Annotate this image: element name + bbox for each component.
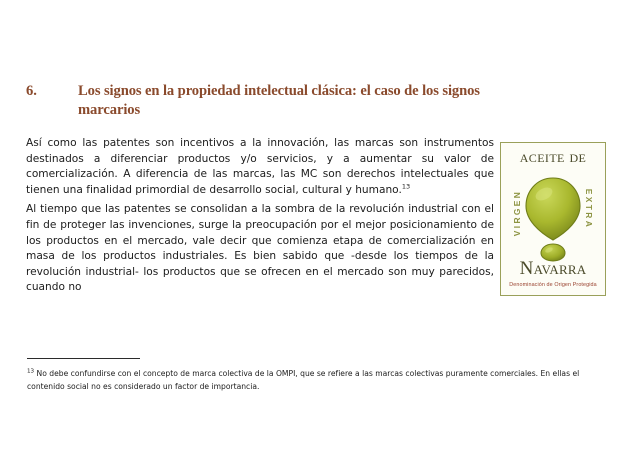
document-page: 6. Los signos en la propiedad intelectua… — [0, 0, 638, 452]
footnote: 13 No debe confundirse con el concepto d… — [27, 368, 619, 393]
footnote-separator — [27, 358, 140, 359]
logo-top-text: aceite de — [500, 147, 606, 167]
footnote-text: No debe confundirse con el concepto de m… — [27, 369, 579, 391]
footnote-number: 13 — [27, 368, 34, 374]
logo-subtitle: Denominación de Origen Protegida — [500, 282, 606, 288]
body-text-block: Así como las patentes son incentivos a l… — [26, 136, 494, 296]
paragraph-2: Al tiempo que las patentes se consolidan… — [26, 202, 494, 296]
olive-oil-drop-icon — [520, 170, 586, 266]
paragraph-1-text: Así como las patentes son incentivos a l… — [26, 137, 494, 196]
logo-brand-navarra: Navarra — [500, 258, 606, 280]
footnote-reference-marker[interactable]: 13 — [402, 182, 410, 190]
section-number: 6. — [26, 82, 78, 101]
paragraph-1: Así como las patentes son incentivos a l… — [26, 136, 494, 198]
aceite-de-navarra-logo: aceite de VIRGEN EXTRA — [500, 142, 606, 296]
section-heading: 6. Los signos en la propiedad intelectua… — [26, 82, 526, 121]
page-title: Los signos en la propiedad intelectual c… — [78, 82, 526, 121]
